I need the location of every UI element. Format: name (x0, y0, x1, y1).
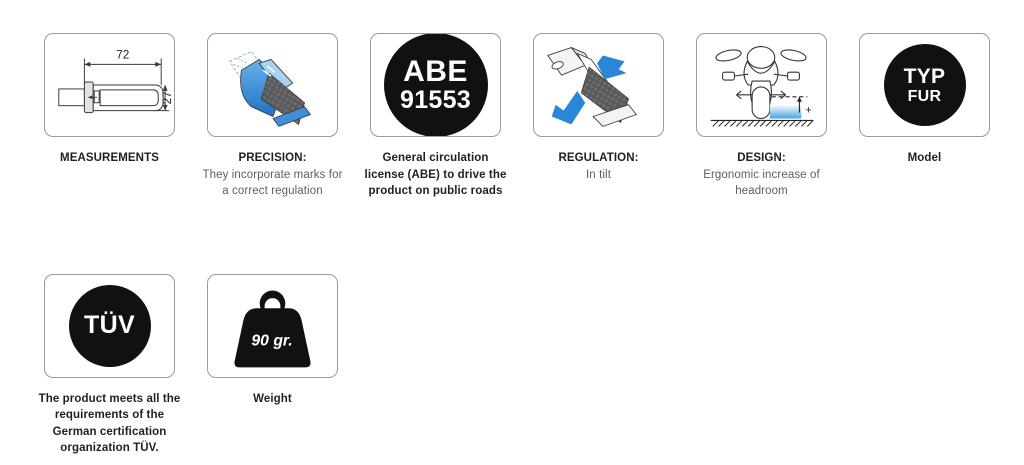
caption-body: They incorporate marks for a correct reg… (202, 169, 342, 198)
motorcycle-headroom-icon: + (697, 33, 826, 137)
feature-cell-measurements: 72 27 MEASUREMENTS (44, 33, 175, 167)
feature-cell-precision: PRECISION: They incorporate marks for a … (207, 33, 338, 200)
caption-title: Weight (253, 393, 292, 405)
headroom-plus-label: + (805, 105, 811, 117)
headroom-block (770, 105, 802, 119)
caption-title: General circulation license (ABE) to dri… (365, 152, 507, 197)
footpeg-dimensions-icon: 72 27 (45, 33, 174, 137)
caption-title: DESIGN: (737, 152, 786, 164)
caption-title: PRECISION: (238, 152, 306, 164)
feature-cell-design: + DESIGN: Ergonomic increase of headroom (696, 33, 827, 200)
abe-card: ABE 91553 (370, 33, 501, 137)
model-card: TYP FUR (859, 33, 990, 137)
footpeg-marks-icon (208, 33, 337, 137)
abe-badge-line2: 91553 (400, 88, 471, 113)
caption-body: In tilt (586, 169, 611, 181)
abe-badge-icon: ABE 91553 (384, 33, 488, 137)
caption-title: MEASUREMENTS (60, 152, 159, 164)
regulation-card (533, 33, 664, 137)
measurements-caption: MEASUREMENTS (36, 150, 184, 167)
tuv-badge-label: TÜV (84, 313, 135, 338)
caption-title: The product meets all the requirements o… (39, 393, 181, 455)
typ-badge-line1: TYP (904, 66, 946, 87)
feature-row-2: TÜV The product meets all the requiremen… (44, 274, 994, 457)
feature-cell-tuv: TÜV The product meets all the requiremen… (44, 274, 175, 457)
abe-badge-line1: ABE (403, 57, 468, 87)
tuv-caption: The product meets all the requirements o… (36, 391, 184, 457)
caption-title: REGULATION: (558, 152, 638, 164)
model-caption: Model (851, 150, 999, 167)
precision-caption: PRECISION: They incorporate marks for a … (199, 150, 347, 200)
regulation-caption: REGULATION: In tilt (525, 150, 673, 183)
weight-icon: 90 gr. (208, 274, 337, 378)
weight-card: 90 gr. (207, 274, 338, 378)
caption-title: Model (908, 152, 942, 164)
dimension-length-label: 72 (116, 47, 129, 61)
tuv-card: TÜV (44, 274, 175, 378)
typ-badge-line2: FUR (908, 89, 942, 105)
feature-cell-weight: 90 gr. Weight (207, 274, 338, 408)
dimension-width-label: 27 (160, 91, 174, 104)
measurements-card: 72 27 (44, 33, 175, 137)
weight-caption: Weight (199, 391, 347, 408)
weight-value-label: 90 gr. (251, 332, 292, 349)
precision-card (207, 33, 338, 137)
feature-cell-regulation: REGULATION: In tilt (533, 33, 664, 183)
feature-icon-grid: 72 27 MEASUREMENTS (44, 33, 994, 457)
footpeg-tilt-icon (534, 33, 663, 137)
caption-body: Ergonomic increase of headroom (703, 169, 820, 198)
typ-fur-badge-icon: TYP FUR (884, 44, 966, 126)
feature-cell-abe: ABE 91553 General circulation license (A… (370, 33, 501, 200)
feature-row-1: 72 27 MEASUREMENTS (44, 33, 994, 200)
feature-cell-model: TYP FUR Model (859, 33, 990, 167)
design-card: + (696, 33, 827, 137)
abe-caption: General circulation license (ABE) to dri… (362, 150, 510, 200)
tuv-badge-icon: TÜV (69, 285, 151, 367)
design-caption: DESIGN: Ergonomic increase of headroom (688, 150, 836, 200)
